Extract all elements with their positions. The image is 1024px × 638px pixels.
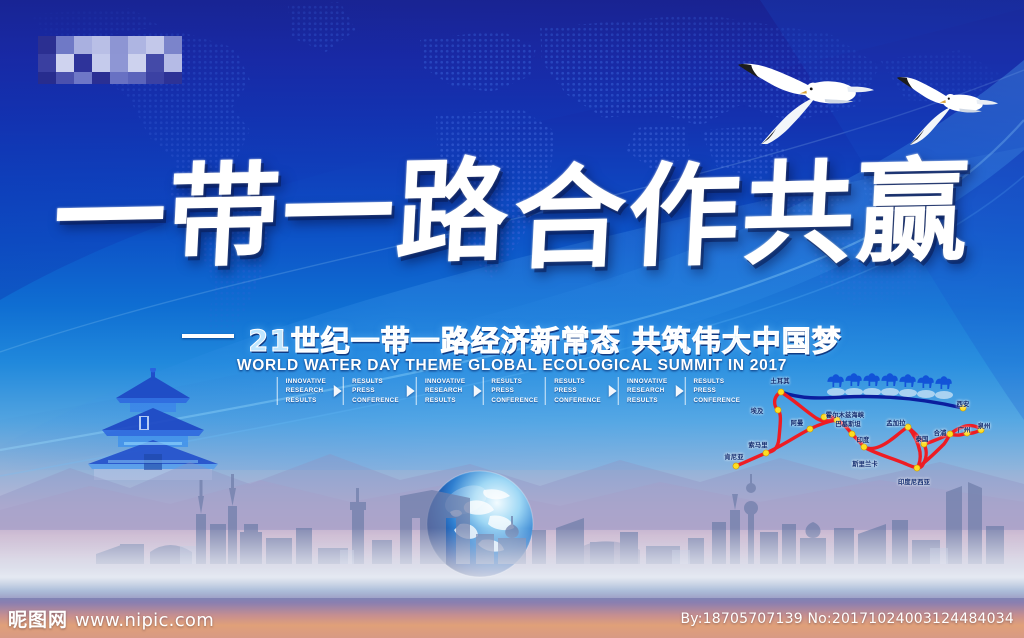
map-city-label: 广州 — [958, 425, 971, 434]
watermark-credit: By:18705707139 No:20171024003124484034 — [680, 611, 1014, 627]
map-city-label: 孟加拉 — [886, 418, 905, 427]
keyword-cell-3: INNOVATIVERESEARCHRESULTS — [416, 377, 472, 405]
map-city-label: 阿曼 — [791, 418, 804, 427]
arrow-right-icon — [473, 385, 481, 397]
map-city-label: 土耳其 — [770, 376, 789, 385]
subtitle-english: WORLD WATER DAY THEME GLOBAL ECOLOGICAL … — [237, 357, 787, 375]
map-city-label: 斯里兰卡 — [852, 459, 878, 468]
blurred-logo-mosaic — [38, 30, 188, 92]
poster-canvas: 一带一路 合作共赢 21世纪一带一路经济新常态 共筑伟大中国梦 WORLD WA… — [0, 0, 1024, 638]
map-city-label: 索马里 — [748, 440, 767, 449]
seagull-icon-small — [895, 62, 1015, 148]
arrow-right-icon — [407, 385, 415, 397]
subtitle-chinese: 21世纪一带一路经济新常态 共筑伟大中国梦 — [248, 318, 841, 360]
keyword-cell-6: INNOVATIVERESEARCHRESULTS — [618, 377, 674, 405]
keyword-cell-text: INNOVATIVERESEARCHRESULTS — [627, 377, 667, 405]
keyword-cell-1: INNOVATIVERESEARCHRESULTS — [277, 377, 333, 405]
map-city-label: 泉州 — [978, 421, 991, 430]
main-title-left: 一带一路 — [51, 156, 513, 277]
watermark-brand-cn: 昵图网 — [8, 611, 68, 630]
keyword-cell-text: INNOVATIVERESEARCHRESULTS — [425, 377, 465, 405]
main-title-right: 合作共赢 — [511, 156, 973, 277]
arrow-right-icon — [675, 385, 683, 397]
belt-and-road-map: 土耳其埃及阿曼索马里肯尼亚霍尔木兹海峡巴基斯坦印度斯里兰卡孟加拉泰国印度尼西亚合… — [724, 366, 1024, 496]
watermark-url: www.nipic.com — [75, 612, 214, 630]
keyword-cell-4: RESULTSPRESSCONFERENCE — [482, 377, 545, 405]
map-city-label: 合浦 — [934, 428, 947, 437]
seagull-icon-large — [738, 44, 898, 144]
arrow-right-icon — [609, 385, 617, 397]
subtitle-chinese-row: 21世纪一带一路经济新常态 共筑伟大中国梦 — [0, 318, 1024, 360]
map-city-label: 埃及 — [751, 406, 764, 415]
map-city-label: 霍尔木兹海峡 — [826, 410, 864, 419]
watermark-brand: 昵图网 www.nipic.com — [8, 611, 214, 630]
keyword-cell-2: RESULTSPRESSCONFERENCE — [343, 377, 406, 405]
keyword-strip: INNOVATIVERESEARCHRESULTSRESULTSPRESSCON… — [277, 377, 748, 405]
camel-caravan-icon — [827, 373, 951, 389]
keyword-cell-text: RESULTSPRESSCONFERENCE — [352, 377, 399, 405]
map-city-label: 巴基斯坦 — [835, 419, 861, 428]
keyword-cell-5: RESULTSPRESSCONFERENCE — [545, 377, 608, 405]
map-city-label: 泰国 — [916, 434, 929, 443]
main-title: 一带一路 合作共赢 — [0, 160, 1024, 272]
map-city-label: 印度尼西亚 — [898, 477, 930, 486]
keyword-cell-text: INNOVATIVERESEARCHRESULTS — [286, 377, 326, 405]
subtitle-rule — [182, 334, 234, 338]
map-city-label: 印度 — [857, 435, 870, 444]
map-city-label: 肯尼亚 — [724, 452, 743, 461]
keyword-cell-text: RESULTSPRESSCONFERENCE — [491, 377, 538, 405]
arrow-right-icon — [334, 385, 342, 397]
map-city-label: 西安 — [957, 399, 970, 408]
keyword-cell-text: RESULTSPRESSCONFERENCE — [554, 377, 601, 405]
